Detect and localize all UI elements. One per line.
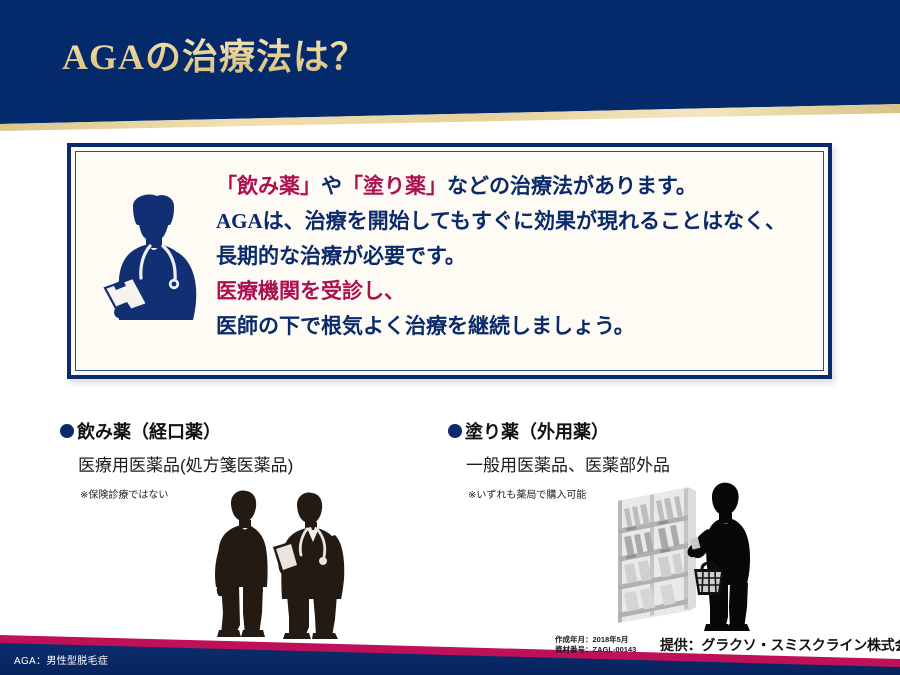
slide-canvas: AGAの治療法は？ [0, 0, 900, 675]
callout-line-5: 医師の下で根気よく治療を継続しましょう。 [216, 309, 810, 344]
column-left-subheading: 医療用医薬品(処方箋医薬品) [78, 451, 440, 476]
callout-line-2: AGAは、治療を開始してもすぐに効果が現れることはなく、 [216, 204, 810, 239]
callout-line-1-seg-2: や [321, 174, 342, 198]
footer-abbreviation: AGA：男性型脱毛症 [14, 652, 108, 667]
callout-box: 「飲み薬」や「塗り薬」などの治療法があります。 AGAは、治療を開始してもすぐに… [67, 143, 832, 379]
callout-line-3: 長期的な治療が必要です。 [216, 239, 810, 274]
callout-text-block: 「飲み薬」や「塗り薬」などの治療法があります。 AGAは、治療を開始してもすぐに… [216, 169, 810, 344]
slide-header: AGAの治療法は？ [0, 0, 900, 132]
column-right-heading: 塗り薬（外用薬） [448, 418, 848, 444]
column-right-heading-text: 塗り薬（外用薬） [465, 418, 609, 444]
footer-provider: 提供：グラクソ・スミスクライン株式会社 [660, 635, 900, 655]
page-title: AGAの治療法は？ [62, 28, 367, 80]
column-left-heading-text: 飲み薬（経口薬） [77, 418, 221, 444]
doctor-with-stethoscope-silhouette [93, 192, 211, 342]
footer-meta: 作成年月：2018年5月 資材番号：ZAGL-00143 [555, 635, 636, 655]
bullet-dot-icon [448, 424, 462, 438]
bullet-dot-icon [60, 424, 74, 438]
column-left-heading: 飲み薬（経口薬） [60, 418, 440, 444]
pharmacy-shelf-shopper-silhouette [608, 473, 780, 641]
doctor-and-patient-silhouette [195, 487, 365, 642]
footer-material-number: 資材番号：ZAGL-00143 [555, 645, 636, 655]
callout-line-1: 「飲み薬」や「塗り薬」などの治療法があります。 [216, 169, 810, 204]
callout-line-4: 医療機関を受診し、 [216, 274, 810, 309]
callout-line-1-seg-3: 「塗り薬」 [342, 174, 447, 198]
callout-line-1-seg-4: などの治療法があります。 [447, 174, 697, 198]
footer-created-date: 作成年月：2018年5月 [555, 635, 636, 645]
callout-line-1-seg-1: 「飲み薬」 [216, 174, 321, 198]
